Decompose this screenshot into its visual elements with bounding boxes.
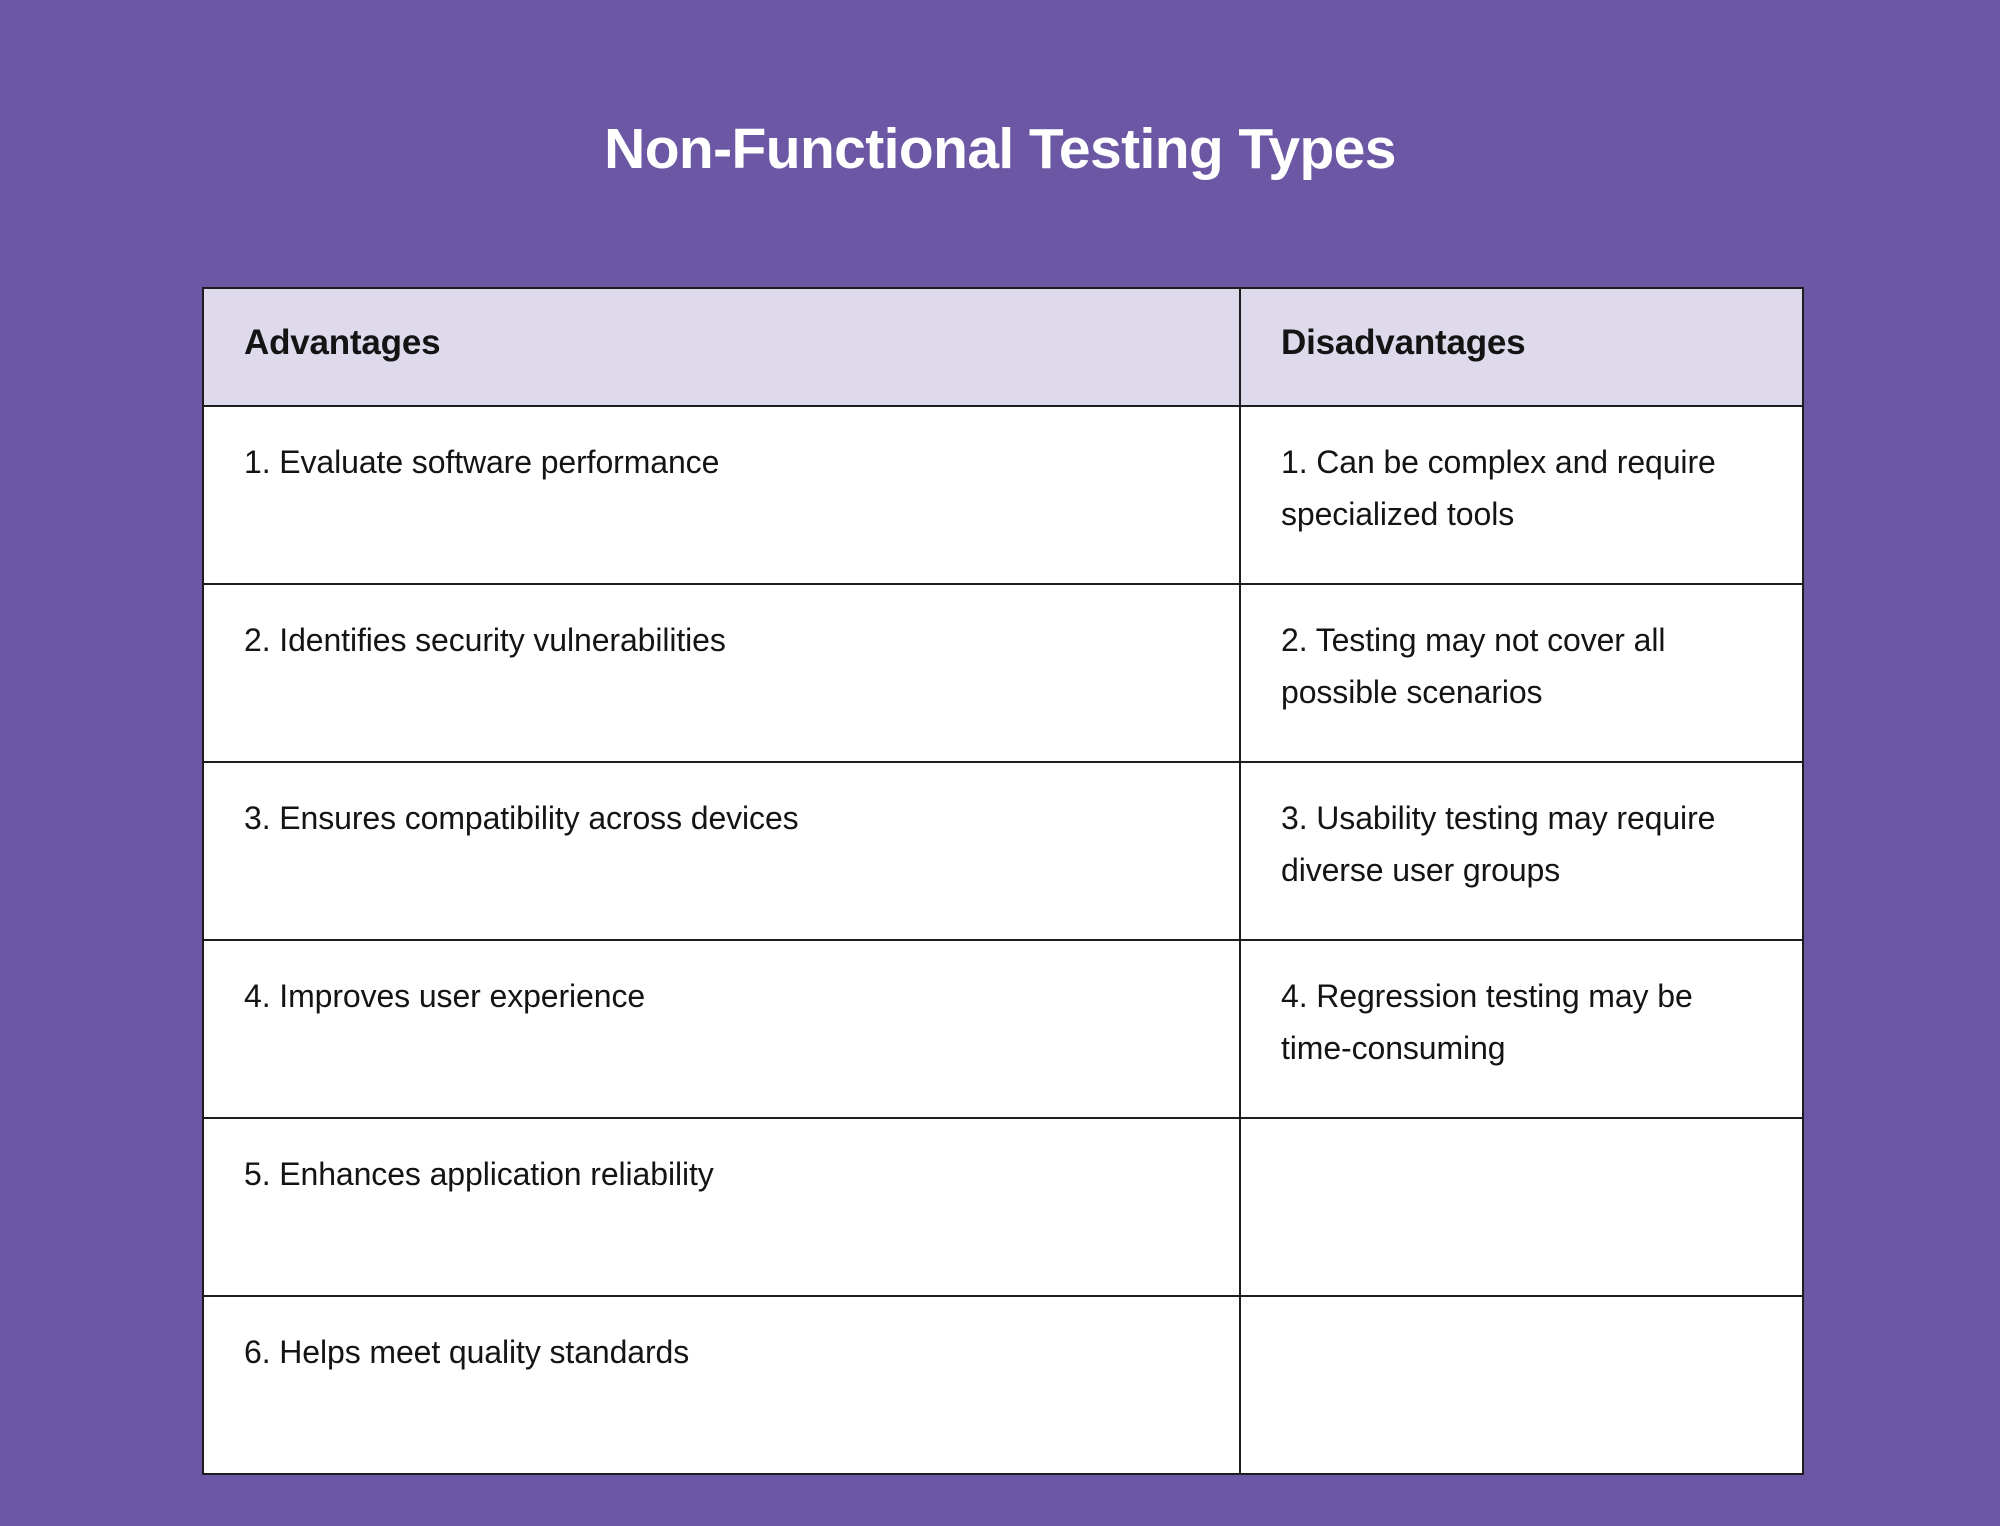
table-row: 2. Identifies security vulnerabilities 2…	[203, 584, 1803, 762]
cell-disadvantage-4: 4. Regression testing may be time-consum…	[1240, 940, 1803, 1118]
table-row: 1. Evaluate software performance 1. Can …	[203, 406, 1803, 584]
table-body: 1. Evaluate software performance 1. Can …	[203, 406, 1803, 1474]
table-row: 5. Enhances application reliability	[203, 1118, 1803, 1296]
table-header-row: Advantages Disadvantages	[203, 288, 1803, 406]
cell-advantage-6: 6. Helps meet quality standards	[203, 1296, 1240, 1474]
cell-advantage-2: 2. Identifies security vulnerabilities	[203, 584, 1240, 762]
cell-advantage-5: 5. Enhances application reliability	[203, 1118, 1240, 1296]
table-row: 3. Ensures compatibility across devices …	[203, 762, 1803, 940]
slide-canvas: Non-Functional Testing Types Advantages …	[0, 0, 2000, 1526]
page-title: Non-Functional Testing Types	[0, 118, 2000, 181]
cell-disadvantage-2: 2. Testing may not cover all possible sc…	[1240, 584, 1803, 762]
column-header-advantages: Advantages	[203, 288, 1240, 406]
cell-advantage-1: 1. Evaluate software performance	[203, 406, 1240, 584]
table-row: 6. Helps meet quality standards	[203, 1296, 1803, 1474]
cell-advantage-4: 4. Improves user experience	[203, 940, 1240, 1118]
table-header: Advantages Disadvantages	[203, 288, 1803, 406]
cell-disadvantage-6	[1240, 1296, 1803, 1474]
table-row: 4. Improves user experience 4. Regressio…	[203, 940, 1803, 1118]
advantages-disadvantages-table: Advantages Disadvantages 1. Evaluate sof…	[202, 287, 1804, 1475]
cell-disadvantage-1: 1. Can be complex and require specialize…	[1240, 406, 1803, 584]
column-header-disadvantages: Disadvantages	[1240, 288, 1803, 406]
cell-disadvantage-3: 3. Usability testing may require diverse…	[1240, 762, 1803, 940]
comparison-table-container: Advantages Disadvantages 1. Evaluate sof…	[202, 287, 1802, 1475]
cell-advantage-3: 3. Ensures compatibility across devices	[203, 762, 1240, 940]
cell-disadvantage-5	[1240, 1118, 1803, 1296]
